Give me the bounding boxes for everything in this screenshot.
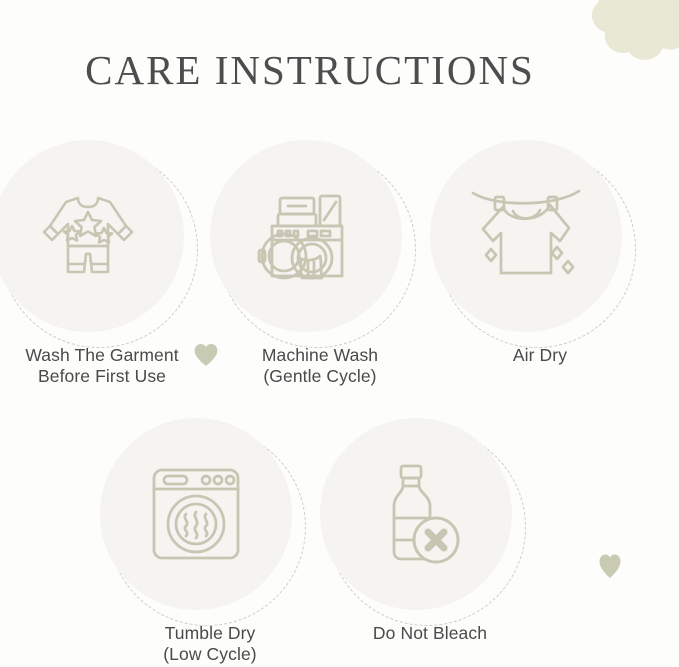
pajamas-with-stars-icon	[0, 140, 184, 332]
page-title: CARE INSTRUCTIONS	[0, 46, 620, 94]
care-item-caption: Wash The Garment Before First Use	[0, 345, 212, 387]
icon-badge	[430, 140, 650, 345]
care-item-caption: Do Not Bleach	[320, 623, 540, 644]
icon-badge	[0, 140, 212, 345]
care-item-tumble-dry: Tumble Dry (Low Cycle)	[100, 418, 320, 665]
heart-accent-icon	[598, 552, 622, 580]
care-item-caption: Tumble Dry (Low Cycle)	[100, 623, 320, 665]
care-instructions-infographic: CARE INSTRUCTIONS	[0, 0, 679, 667]
care-item-caption: Machine Wash (Gentle Cycle)	[210, 345, 430, 387]
care-item-wash-first: Wash The Garment Before First Use	[0, 140, 212, 387]
caption-line-2: Before First Use	[0, 366, 212, 387]
tshirt-on-clothesline-icon	[430, 140, 622, 332]
caption-line-2: (Low Cycle)	[100, 644, 320, 665]
caption-line-1: Wash The Garment	[25, 345, 178, 365]
care-item-caption: Air Dry	[430, 345, 650, 366]
icon-badge	[210, 140, 430, 345]
care-item-air-dry: Air Dry	[430, 140, 650, 366]
bleach-bottle-crossed-icon	[320, 418, 512, 610]
caption-line-1: Air Dry	[513, 345, 567, 365]
caption-line-1: Tumble Dry	[165, 623, 256, 643]
care-item-do-not-bleach: Do Not Bleach	[320, 418, 540, 644]
icon-badge	[320, 418, 540, 623]
caption-line-1: Do Not Bleach	[373, 623, 487, 643]
caption-line-1: Machine Wash	[262, 345, 378, 365]
care-item-machine-wash: Machine Wash (Gentle Cycle)	[210, 140, 430, 387]
icon-badge	[100, 418, 320, 623]
washing-machine-icon	[210, 140, 402, 332]
tumble-dryer-icon	[100, 418, 292, 610]
caption-line-2: (Gentle Cycle)	[210, 366, 430, 387]
